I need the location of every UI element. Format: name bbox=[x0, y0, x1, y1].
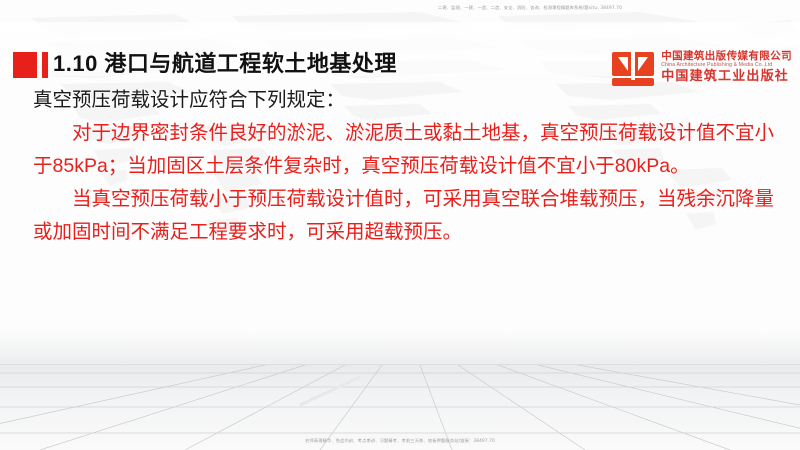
publisher-company-en: China Architecture Publishing & Media Co… bbox=[661, 63, 792, 68]
open-book-logo-icon bbox=[612, 48, 654, 86]
watermark-bottom: 名师高理精华、免会内训、考点串讲、习题精考、考前三天练、地板押题服务站/链接：3… bbox=[0, 438, 800, 444]
watermark-top: 二建、监理、一建、一造、二造、安全、消防、咨询、检测课程精题库系统/题situ:… bbox=[0, 5, 800, 11]
slide-body: 真空预压荷载设计应符合下列规定： 对于边界密封条件良好的淤泥、淤泥质土或黏土地基… bbox=[33, 84, 778, 249]
page-title: 1.10 港口与航道工程软土地基处理 bbox=[53, 48, 397, 80]
body-lead-line: 真空预压荷载设计应符合下列规定： bbox=[33, 84, 778, 117]
accent-bar-icon bbox=[42, 52, 48, 78]
publisher-imprint-cn: 中国建筑工业出版社 bbox=[661, 70, 792, 84]
body-paragraph-1: 对于边界密封条件良好的淤泥、淤泥质土或黏土地基，真空预压荷载设计值不宜小于85k… bbox=[33, 117, 778, 183]
wall-shadow bbox=[0, 330, 800, 365]
publisher-logo-text: 中国建筑出版传媒有限公司 China Architecture Publishi… bbox=[661, 51, 792, 84]
body-paragraph-2: 当真空预压荷载小于预压荷载设计值时，可采用真空联合堆载预压，当残余沉降量或加固时… bbox=[33, 183, 778, 249]
title-accent-marks bbox=[13, 52, 48, 78]
slide-header: 1.10 港口与航道工程软土地基处理 中国建筑出版传媒有限公司 China Ar bbox=[0, 22, 800, 76]
publisher-company-cn: 中国建筑出版传媒有限公司 bbox=[661, 51, 792, 62]
accent-block-icon bbox=[13, 52, 37, 78]
slide-canvas: 二建、监理、一建、一造、二造、安全、消防、咨询、检测课程精题库系统/题situ:… bbox=[0, 0, 800, 450]
publisher-logo: 中国建筑出版传媒有限公司 China Architecture Publishi… bbox=[612, 48, 792, 86]
